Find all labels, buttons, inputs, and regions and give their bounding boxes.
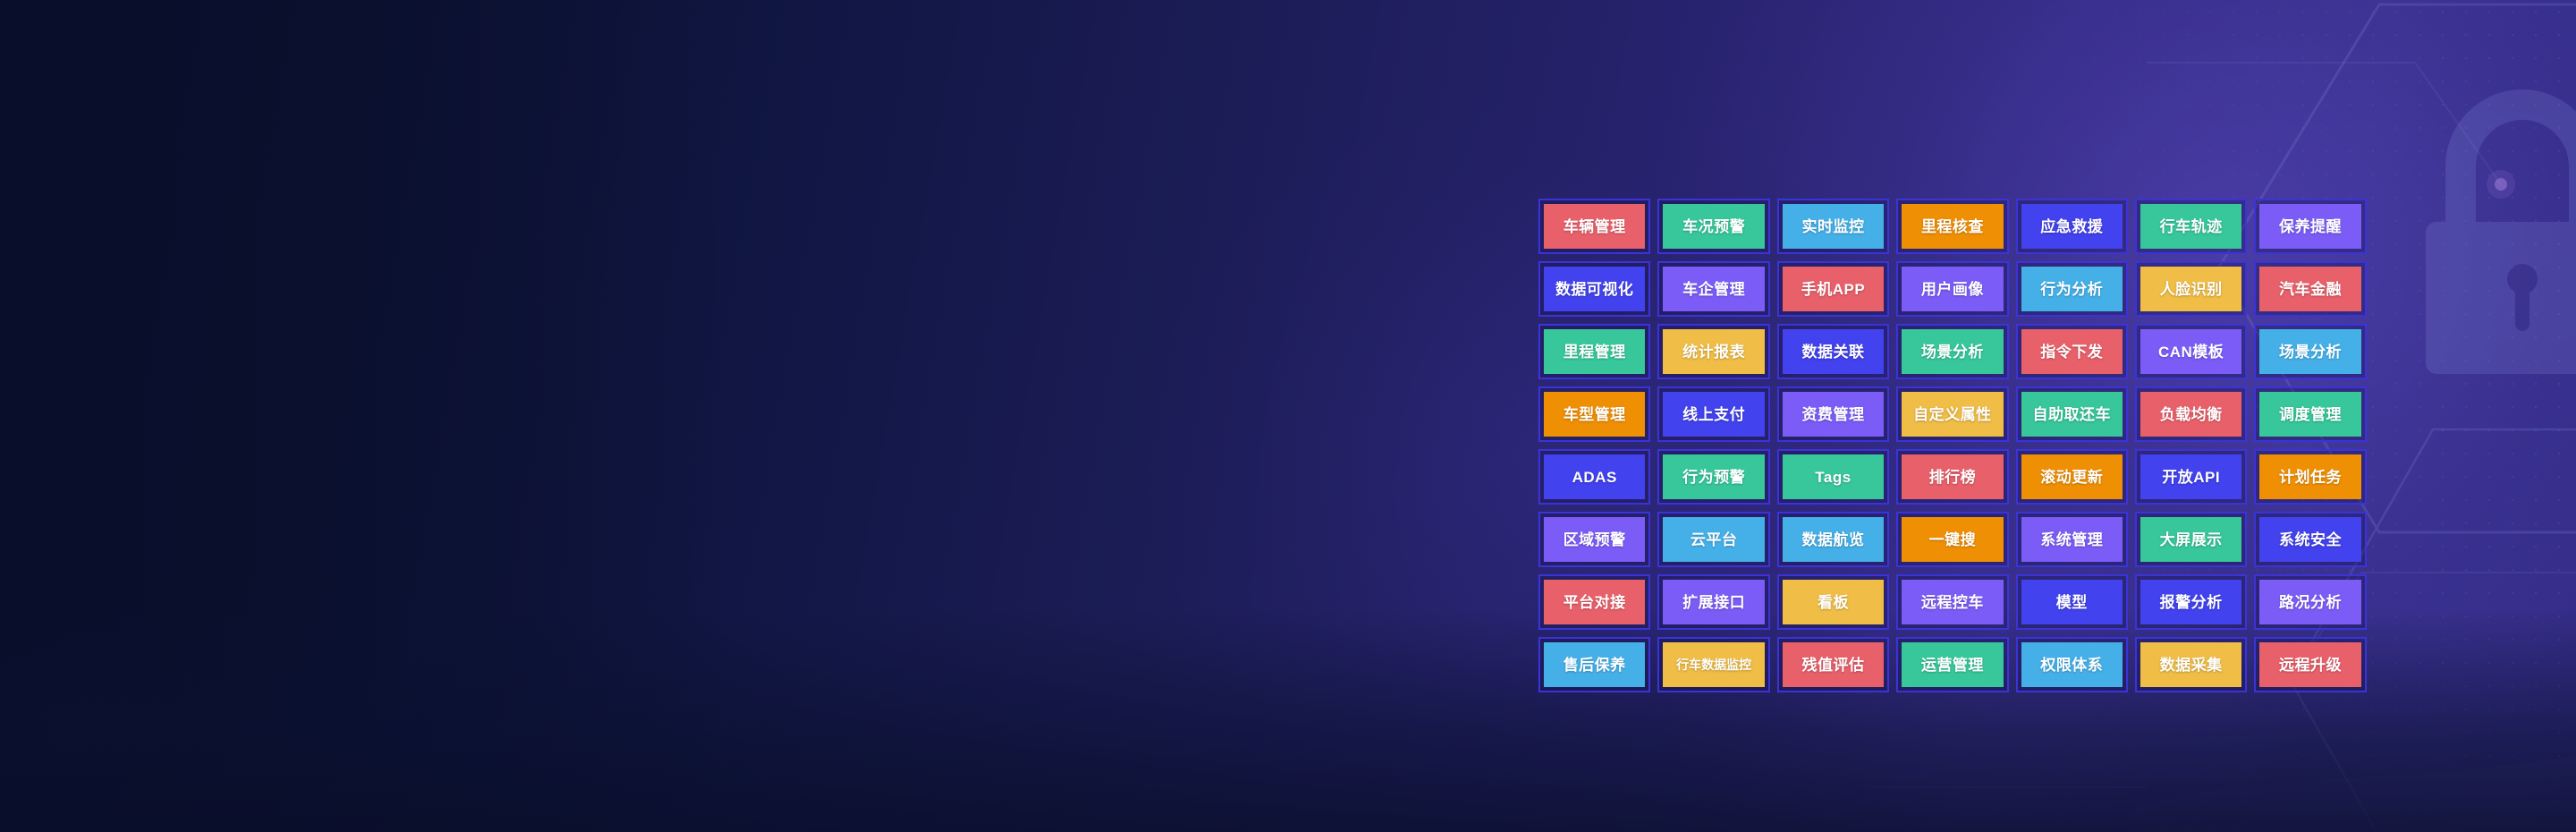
feature-tile-label: 里程管理 [1544,329,1645,374]
feature-tile-label: 数据关联 [1783,329,1884,374]
feature-tile-frame: 数据采集 [2135,637,2247,692]
feature-tile[interactable]: 计划任务 [2250,446,2369,508]
wave-decoration [2129,756,2576,832]
feature-tile[interactable]: 场景分析 [2250,320,2369,383]
feature-tile-frame: 计划任务 [2254,449,2366,505]
feature-tile-frame: 滚动更新 [2016,449,2128,505]
feature-tile-frame: 看板 [1777,574,1889,630]
feature-tile[interactable]: 数据采集 [2131,633,2250,696]
feature-tile[interactable]: 负载均衡 [2131,383,2250,446]
feature-tile[interactable]: 里程管理 [1535,320,1654,383]
feature-tile[interactable]: 车辆管理 [1535,195,1654,258]
feature-tile-frame: 指令下发 [2016,324,2128,379]
feature-tile[interactable]: 远程升级 [2250,633,2369,696]
feature-tile[interactable]: 开放API [2131,446,2250,508]
node-dot-icon [2495,178,2507,191]
feature-tile-frame: 区域预警 [1538,512,1650,567]
feature-tile[interactable]: 云平台 [1654,508,1773,571]
padlock-icon [2426,89,2576,374]
feature-tile-frame: Tags [1777,449,1889,505]
feature-tile-label: 路况分析 [2259,580,2360,624]
feature-tile-frame: 行为预警 [1657,449,1769,505]
feature-tile-frame: 用户画像 [1896,261,2008,317]
feature-tile-label: 云平台 [1663,517,1764,562]
feature-tile[interactable]: 自助取还车 [2012,383,2131,446]
feature-tile-label: CAN模板 [2140,329,2241,374]
feature-tile-label: 统计报表 [1663,329,1764,374]
feature-tile-frame: 手机APP [1777,261,1889,317]
feature-tile[interactable]: 路况分析 [2250,571,2369,633]
feature-tile-label: 看板 [1783,580,1884,624]
feature-tile-frame: 自助取还车 [2016,386,2128,442]
feature-tile-frame: 调度管理 [2254,386,2366,442]
feature-tile-frame: 开放API [2135,449,2247,505]
feature-tile-frame: 权限体系 [2016,637,2128,692]
feature-tile-label: ADAS [1544,454,1645,499]
page-stage: 车辆管理车况预警实时监控里程核查应急救援行车轨迹保养提醒数据可视化车企管理手机A… [0,0,2576,832]
feature-tile-label: 行车轨迹 [2140,204,2241,249]
feature-tile-label: 场景分析 [1902,329,2003,374]
feature-tile-label: 数据可视化 [1544,267,1645,311]
feature-tile[interactable]: 大屏展示 [2131,508,2250,571]
feature-tile[interactable]: 应急救援 [2012,195,2131,258]
feature-tile-frame: 行车数据监控 [1657,637,1769,692]
feature-tile-label: 残值评估 [1783,642,1884,687]
feature-tile-label: 车型管理 [1544,392,1645,437]
feature-tile[interactable]: 平台对接 [1535,571,1654,633]
feature-tile-frame: 系统管理 [2016,512,2128,567]
feature-tile-label: 扩展接口 [1663,580,1764,624]
feature-tile-label: 售后保养 [1544,642,1645,687]
feature-tile[interactable]: ADAS [1535,446,1654,508]
feature-tile[interactable]: 残值评估 [1774,633,1893,696]
feature-tile[interactable]: 扩展接口 [1654,571,1773,633]
feature-tile[interactable]: 系统管理 [2012,508,2131,571]
feature-tile-frame: 排行榜 [1896,449,2008,505]
feature-tile[interactable]: 车型管理 [1535,383,1654,446]
feature-tile[interactable]: 统计报表 [1654,320,1773,383]
feature-tile-frame: ADAS [1538,449,1650,505]
feature-tile-label: 行为分析 [2021,267,2123,311]
feature-tile-label: 车况预警 [1663,204,1764,249]
feature-tile[interactable]: Tags [1774,446,1893,508]
feature-tile-label: 汽车金融 [2259,267,2360,311]
feature-tile-frame: 系统安全 [2254,512,2366,567]
feature-tile[interactable]: 车企管理 [1654,258,1773,320]
feature-tile[interactable]: 资费管理 [1774,383,1893,446]
feature-tile-frame: 线上支付 [1657,386,1769,442]
feature-tile[interactable]: 行车轨迹 [2131,195,2250,258]
feature-tile-label: 模型 [2021,580,2123,624]
feature-tile-frame: 人脸识别 [2135,261,2247,317]
feature-tile[interactable]: 行为分析 [2012,258,2131,320]
feature-tile-label: 车辆管理 [1544,204,1645,249]
feature-tile[interactable]: 线上支付 [1654,383,1773,446]
feature-tile-frame: 云平台 [1657,512,1769,567]
node-dot-glow-icon [2487,170,2515,199]
feature-tile-frame: 车辆管理 [1538,199,1650,254]
feature-tile-label: 大屏展示 [2140,517,2241,562]
feature-tile-frame: 里程管理 [1538,324,1650,379]
feature-tile-label: 自定义属性 [1902,392,2003,437]
feature-tile[interactable]: 车况预警 [1654,195,1773,258]
feature-tile-frame: 车况预警 [1657,199,1769,254]
feature-tile-label: 开放API [2140,454,2241,499]
feature-tile-frame: 车企管理 [1657,261,1769,317]
feature-tile-label: 指令下发 [2021,329,2123,374]
feature-tile-frame: 大屏展示 [2135,512,2247,567]
feature-tile-frame: 残值评估 [1777,637,1889,692]
feature-tile[interactable]: 数据关联 [1774,320,1893,383]
feature-tile-label: 负载均衡 [2140,392,2241,437]
feature-tile-label: 自助取还车 [2021,392,2123,437]
feature-tile[interactable]: 手机APP [1774,258,1893,320]
feature-tile[interactable]: 权限体系 [2012,633,2131,696]
feature-tile[interactable]: 实时监控 [1774,195,1893,258]
feature-tile-label: 排行榜 [1902,454,2003,499]
feature-tile[interactable]: 报警分析 [2131,571,2250,633]
feature-tile-frame: 路况分析 [2254,574,2366,630]
feature-tile-frame: 数据关联 [1777,324,1889,379]
feature-tile-frame: 汽车金融 [2254,261,2366,317]
feature-tile[interactable]: 看板 [1774,571,1893,633]
feature-tile-label: 远程升级 [2259,642,2360,687]
feature-tile[interactable]: 指令下发 [2012,320,2131,383]
feature-tile-label: 场景分析 [2259,329,2360,374]
feature-tile-label: 资费管理 [1783,392,1884,437]
feature-tile[interactable]: 一键搜 [1893,508,2012,571]
feature-tile[interactable]: 人脸识别 [2131,258,2250,320]
feature-tile-frame: 自定义属性 [1896,386,2008,442]
feature-tile-frame: 实时监控 [1777,199,1889,254]
feature-tile[interactable]: 售后保养 [1535,633,1654,696]
feature-tile-label: 数据航览 [1783,517,1884,562]
feature-tile-frame: 车型管理 [1538,386,1650,442]
feature-tile-label: 里程核查 [1902,204,2003,249]
feature-tile-label: 系统管理 [2021,517,2123,562]
feature-tile-label: 滚动更新 [2021,454,2123,499]
feature-tile[interactable]: 数据可视化 [1535,258,1654,320]
feature-tile-label: 人脸识别 [2140,267,2241,311]
feature-tile-frame: 场景分析 [2254,324,2366,379]
feature-tile-frame: 负载均衡 [2135,386,2247,442]
feature-tile-frame: 模型 [2016,574,2128,630]
feature-tile-frame: 扩展接口 [1657,574,1769,630]
feature-tile[interactable]: 模型 [2012,571,2131,633]
feature-tile[interactable]: 用户画像 [1893,258,2012,320]
feature-tile-frame: 数据可视化 [1538,261,1650,317]
feature-tile-label: 车企管理 [1663,267,1764,311]
feature-tile[interactable]: CAN模板 [2131,320,2250,383]
feature-tile-label: Tags [1783,454,1884,499]
feature-tile[interactable]: 调度管理 [2250,383,2369,446]
feature-tile-label: 线上支付 [1663,392,1764,437]
feature-tile[interactable]: 里程核查 [1893,195,2012,258]
feature-tile-frame: 行车轨迹 [2135,199,2247,254]
feature-tile-frame: 资费管理 [1777,386,1889,442]
feature-tile[interactable]: 场景分析 [1893,320,2012,383]
feature-tile-label: 行车数据监控 [1663,642,1764,687]
left-vignette [0,0,733,832]
feature-tile[interactable]: 汽车金融 [2250,258,2369,320]
feature-tile-frame: 保养提醒 [2254,199,2366,254]
feature-tile-frame: 远程升级 [2254,637,2366,692]
feature-tile-label: 运营管理 [1902,642,2003,687]
feature-tile-label: 远程控车 [1902,580,2003,624]
feature-tile-label: 调度管理 [2259,392,2360,437]
feature-tile-label: 实时监控 [1783,204,1884,249]
feature-tile-frame: 一键搜 [1896,512,2008,567]
feature-tile-label: 系统安全 [2259,517,2360,562]
feature-tile-label: 报警分析 [2140,580,2241,624]
feature-tile[interactable]: 系统安全 [2250,508,2369,571]
feature-tile[interactable]: 排行榜 [1893,446,2012,508]
feature-tile[interactable]: 滚动更新 [2012,446,2131,508]
feature-tile-label: 数据采集 [2140,642,2241,687]
feature-tile-frame: 售后保养 [1538,637,1650,692]
feature-tile-label: 应急救援 [2021,204,2123,249]
feature-tile-label: 用户画像 [1902,267,2003,311]
feature-tile[interactable]: 数据航览 [1774,508,1893,571]
feature-tile-label: 行为预警 [1663,454,1764,499]
feature-tile-grid: 车辆管理车况预警实时监控里程核查应急救援行车轨迹保养提醒数据可视化车企管理手机A… [1535,195,2370,696]
feature-tile-frame: 统计报表 [1657,324,1769,379]
feature-tile-label: 计划任务 [2259,454,2360,499]
feature-tile-label: 手机APP [1783,267,1884,311]
feature-tile-frame: 里程核查 [1896,199,2008,254]
feature-tile-frame: 平台对接 [1538,574,1650,630]
feature-tile[interactable]: 自定义属性 [1893,383,2012,446]
feature-tile[interactable]: 远程控车 [1893,571,2012,633]
feature-tile-frame: 报警分析 [2135,574,2247,630]
feature-tile-frame: 远程控车 [1896,574,2008,630]
feature-tile-frame: 数据航览 [1777,512,1889,567]
feature-tile-label: 保养提醒 [2259,204,2360,249]
feature-tile[interactable]: 运营管理 [1893,633,2012,696]
feature-tile-frame: 运营管理 [1896,637,2008,692]
feature-tile[interactable]: 行为预警 [1654,446,1773,508]
feature-tile-label: 区域预警 [1544,517,1645,562]
feature-tile-label: 平台对接 [1544,580,1645,624]
feature-tile[interactable]: 区域预警 [1535,508,1654,571]
feature-tile-frame: 行为分析 [2016,261,2128,317]
feature-tile-frame: 应急救援 [2016,199,2128,254]
feature-tile-label: 权限体系 [2021,642,2123,687]
feature-tile-frame: 场景分析 [1896,324,2008,379]
feature-tile[interactable]: 行车数据监控 [1654,633,1773,696]
feature-tile-frame: CAN模板 [2135,324,2247,379]
feature-tile[interactable]: 保养提醒 [2250,195,2369,258]
feature-tile-label: 一键搜 [1902,517,2003,562]
